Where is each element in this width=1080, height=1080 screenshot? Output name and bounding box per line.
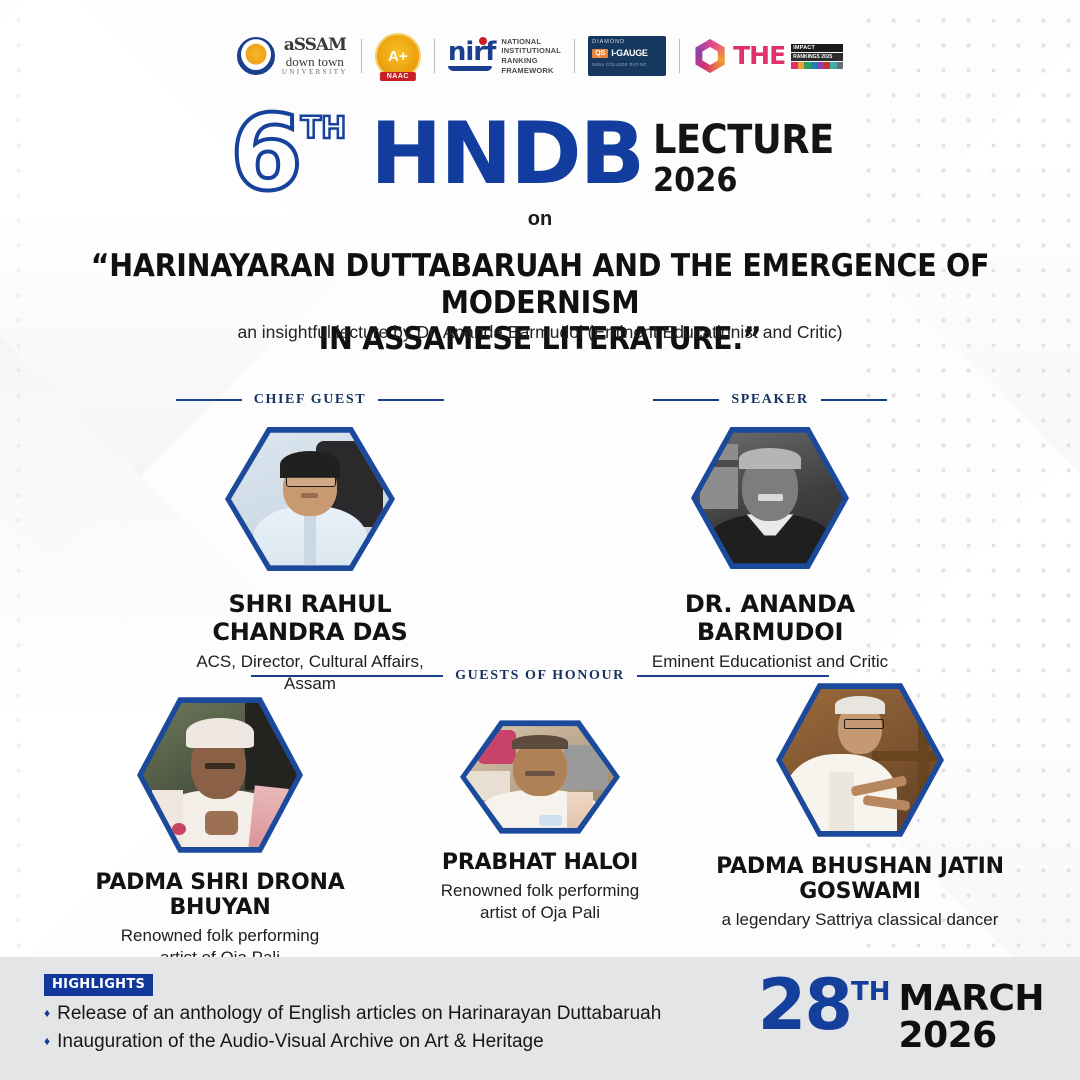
the-block-impact: IMPACT xyxy=(791,44,843,52)
event-date-day-suffix: TH xyxy=(851,979,891,1005)
portrait-rahul-chandra-das xyxy=(231,430,389,568)
highlight-item: ♦ Release of an anthology of English art… xyxy=(44,1003,661,1025)
rule-left xyxy=(251,675,443,677)
speaker-section-rule: SPEAKER xyxy=(620,392,920,408)
speaker-label: SPEAKER xyxy=(731,392,808,408)
igauge-tier: DIAMOND xyxy=(592,39,662,45)
rule-right xyxy=(378,399,444,401)
adtu-logo: aSSAM down town UNIVERSITY xyxy=(224,37,361,76)
highlight-text: Release of an anthology of English artic… xyxy=(57,1003,661,1025)
rule-left xyxy=(176,399,242,401)
igauge-label: I-GAUGE xyxy=(611,48,647,58)
guests-of-honour-label: GUESTS OF HONOUR xyxy=(455,668,625,684)
portrait-ananda-barmudoi xyxy=(697,430,843,566)
the-impact-rankings-logo: THE IMPACT RANKINGS 2025 xyxy=(680,39,856,73)
nirf-full-line2: INSTITUTIONAL xyxy=(501,46,561,56)
bottom-bar: HIGHLIGHTS ♦ Release of an anthology of … xyxy=(0,957,1080,1080)
lecture-label: LECTURE xyxy=(653,120,834,160)
speaker-name: DR. ANANDA BARMUDOI xyxy=(620,590,920,646)
guest-role: a legendary Sattriya classical dancer xyxy=(690,909,1030,931)
portrait-prabhat-haloi xyxy=(466,724,614,830)
chief-guest-section-rule: CHIEF GUEST xyxy=(160,392,460,408)
diamond-bullet-icon: ♦ xyxy=(44,1003,50,1023)
igauge-sub: INDIA COLLEGE RATING xyxy=(592,62,662,67)
hndb-acronym: HNDB xyxy=(370,114,643,196)
guests-row: PADMA SHRI DRONA BHUYAN Renowned folk pe… xyxy=(0,694,1080,969)
edition-ordinal-suffix: TH xyxy=(301,114,347,144)
naac-grade: A+ xyxy=(388,49,408,64)
guest-role-line1: a legendary Sattriya classical dancer xyxy=(690,909,1030,931)
guest-role-line1: Renowned folk performing xyxy=(390,880,690,902)
guest-photo-hexagon xyxy=(776,680,944,840)
guest-photo-hexagon xyxy=(460,718,620,836)
event-date-day: 28 xyxy=(758,973,851,1037)
chief-guest-photo-hexagon xyxy=(225,424,395,574)
nirf-full-line1: NATIONAL xyxy=(501,37,561,47)
rule-right xyxy=(821,399,887,401)
edition-number: 6 xyxy=(230,108,298,200)
the-block-rankings: RANKINGS 2025 xyxy=(791,53,843,61)
nirf-full-line3: RANKING xyxy=(501,56,561,66)
event-date-month: MARCH xyxy=(899,981,1044,1018)
guest-role-line2: artist of Oja Pali xyxy=(390,902,690,924)
university-seal-icon xyxy=(237,37,275,75)
rule-right xyxy=(637,675,829,677)
guests-of-honour-section: GUESTS OF HONOUR xyxy=(0,668,1080,969)
guest-role-line1: Renowned folk performing xyxy=(50,925,390,947)
nirf-full-line4: FRAMEWORK xyxy=(501,66,561,76)
speaker-photo-hexagon xyxy=(691,424,849,572)
nirf-logo: nirf NATIONAL INSTITUTIONAL RANKING FRAM… xyxy=(435,37,574,75)
diamond-bullet-icon: ♦ xyxy=(44,1031,50,1051)
guest-role: Renowned folk performing artist of Oja P… xyxy=(390,880,690,924)
naac-logo: A+ NAAC xyxy=(362,33,434,79)
the-wordmark: THE xyxy=(733,45,785,68)
nirf-wordmark: nirf xyxy=(448,41,496,64)
highlights-badge: HIGHLIGHTS xyxy=(44,974,153,996)
speaker-card: SPEAKER xyxy=(620,392,920,695)
naac-body-label: NAAC xyxy=(380,72,416,81)
guest-card: PADMA SHRI DRONA BHUYAN Renowned folk pe… xyxy=(50,694,390,969)
featured-persons-row: CHIEF GUEST xyxy=(0,392,1080,695)
guest-photo-hexagon xyxy=(137,694,303,856)
on-connector-word: on xyxy=(0,208,1080,231)
chief-guest-label: CHIEF GUEST xyxy=(254,392,366,408)
rule-left xyxy=(653,399,719,401)
poster-canvas: aSSAM down town UNIVERSITY A+ NAAC nirf xyxy=(0,0,1080,1080)
event-date-year: 2026 xyxy=(899,1018,1044,1055)
lecture-topic-line1: “HARINAYARAN DUTTABARUAH AND THE EMERGEN… xyxy=(43,248,1037,321)
qs-igauge-logo: DIAMOND QS I-GAUGE INDIA COLLEGE RATING xyxy=(575,36,679,76)
accreditation-logo-strip: aSSAM down town UNIVERSITY A+ NAAC nirf xyxy=(0,28,1080,84)
highlights-list: ♦ Release of an anthology of English art… xyxy=(44,1003,661,1060)
naac-seal-icon: A+ NAAC xyxy=(375,33,421,79)
guest-name: PADMA SHRI DRONA BHUYAN xyxy=(50,870,390,920)
qs-badge-icon: QS xyxy=(592,49,608,58)
chief-guest-card: CHIEF GUEST xyxy=(160,392,460,695)
portrait-drona-bhuyan xyxy=(143,700,297,850)
adtu-logo-line2: down town xyxy=(282,55,348,68)
chief-guest-name: SHRI RAHUL CHANDRA DAS xyxy=(160,590,460,646)
guest-card: PADMA BHUSHAN JATIN GOSWAMI a legendary … xyxy=(690,680,1030,931)
lecture-subtitle: an insightful lecture by Dr. Ananda Barm… xyxy=(0,322,1080,343)
guest-name: PRABHAT HALOI xyxy=(390,850,690,875)
portrait-jatin-goswami xyxy=(782,686,938,834)
highlight-item: ♦ Inauguration of the Audio-Visual Archi… xyxy=(44,1031,661,1053)
highlight-text: Inauguration of the Audio-Visual Archive… xyxy=(57,1031,544,1053)
the-color-bars-icon xyxy=(791,62,843,69)
event-headline: 6 TH HNDB LECTURE 2026 xyxy=(0,104,1080,200)
guest-card: PRABHAT HALOI Renowned folk performing a… xyxy=(390,718,690,924)
the-hexagon-icon xyxy=(693,39,727,73)
lecture-year: 2026 xyxy=(653,163,834,196)
guest-name: PADMA BHUSHAN JATIN GOSWAMI xyxy=(690,854,1030,904)
adtu-logo-line3: UNIVERSITY xyxy=(282,69,348,76)
event-date: 28 TH MARCH 2026 xyxy=(758,973,1044,1054)
adtu-logo-line1: aSSAM xyxy=(282,37,348,54)
